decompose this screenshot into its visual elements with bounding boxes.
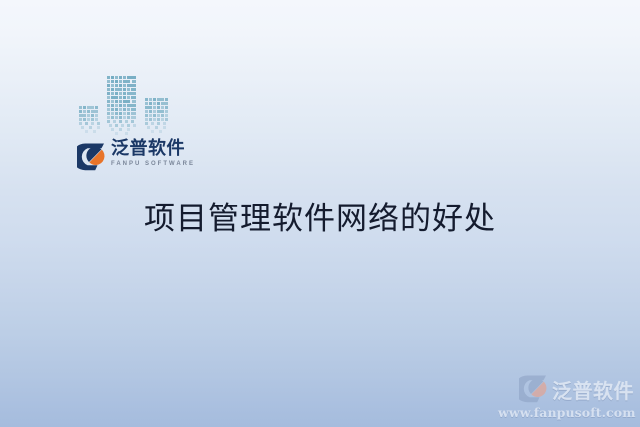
watermark-logo-row: 泛普软件 (498, 374, 634, 404)
fanpu-logo-lockup: 泛普软件 FANPU SOFTWARE (77, 140, 195, 172)
watermark: 泛普软件 www.fanpusoft.com (498, 374, 634, 420)
fanpu-hexagon-swoosh-icon (519, 374, 549, 404)
slide-title: 项目管理软件网络的好处 (0, 200, 640, 239)
fanpu-hexagon-swoosh-icon (77, 142, 107, 172)
slide-canvas: 泛普软件 FANPU SOFTWARE 项目管理软件网络的好处 泛普软件 www… (0, 0, 640, 427)
fanpu-wordmark: 泛普软件 FANPU SOFTWARE (111, 140, 195, 167)
watermark-brand-name: 泛普软件 (552, 375, 634, 404)
watermark-url: www.fanpusoft.com (498, 405, 634, 420)
brand-name-en: FANPU SOFTWARE (111, 161, 195, 167)
brand-block: 泛普软件 FANPU SOFTWARE (76, 72, 196, 184)
pixel-city-skyline-icon (76, 72, 196, 140)
brand-name-cn: 泛普软件 (111, 140, 195, 158)
